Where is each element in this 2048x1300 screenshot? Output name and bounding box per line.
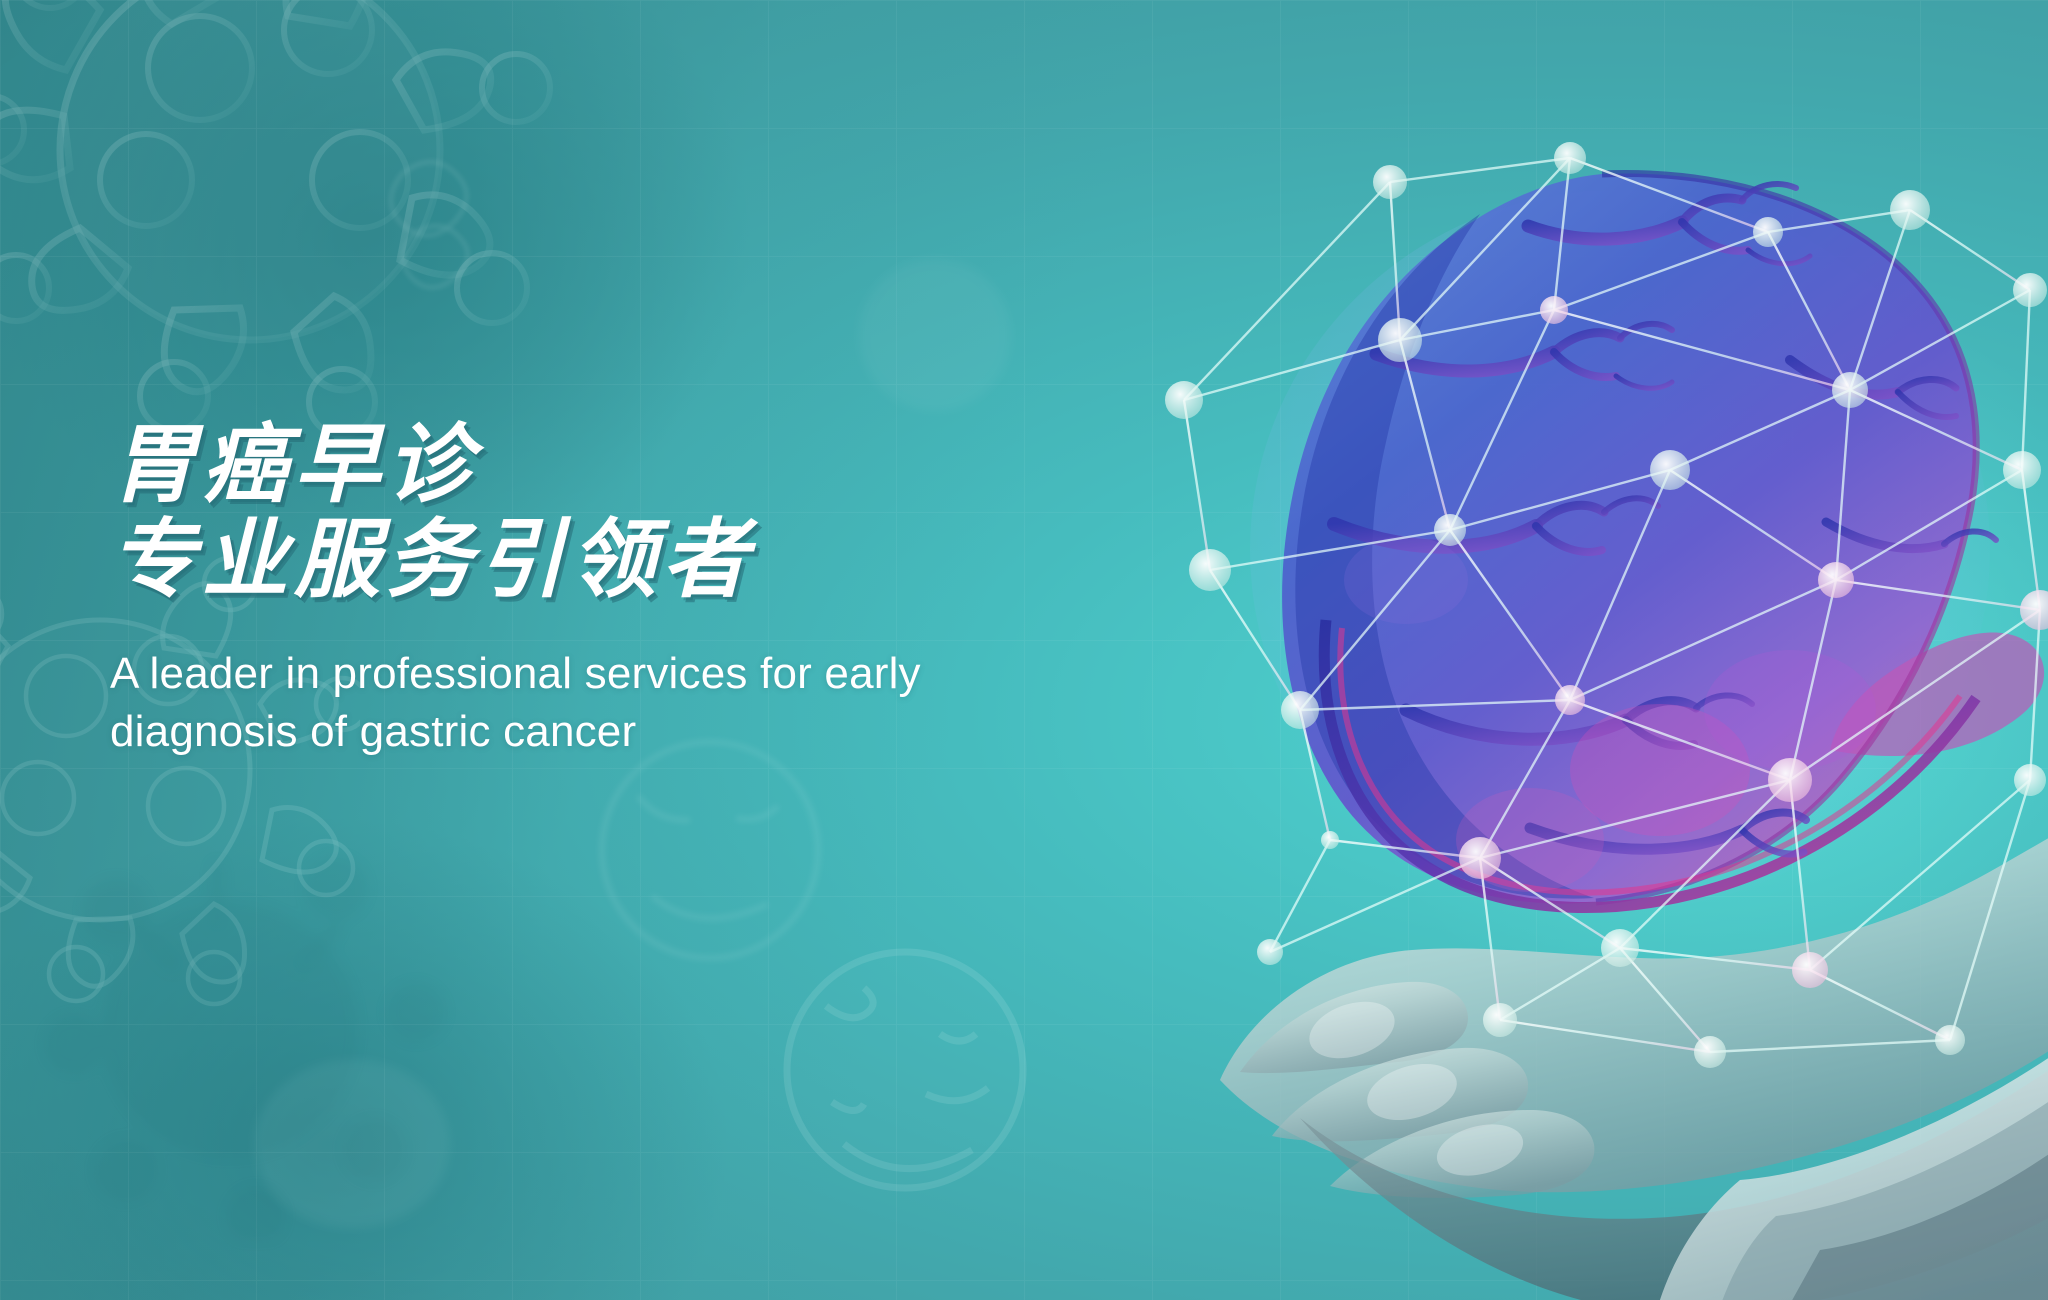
subhead-line-2: diagnosis of gastric cancer [110, 703, 1110, 762]
subhead-line-1: A leader in professional services for ea… [110, 645, 1110, 704]
page-title: 胃癌早诊 专业服务引领者 [110, 418, 1120, 609]
hero-copy: 胃癌早诊 专业服务引领者 A leader in professional se… [110, 418, 1120, 762]
page-subtitle: A leader in professional services for ea… [110, 645, 1110, 762]
headline-line-1: 胃癌早诊 [110, 418, 1120, 513]
headline-line-2: 专业服务引领者 [110, 513, 1120, 608]
hero-banner: 胃癌早诊 专业服务引领者 A leader in professional se… [0, 0, 2048, 1300]
